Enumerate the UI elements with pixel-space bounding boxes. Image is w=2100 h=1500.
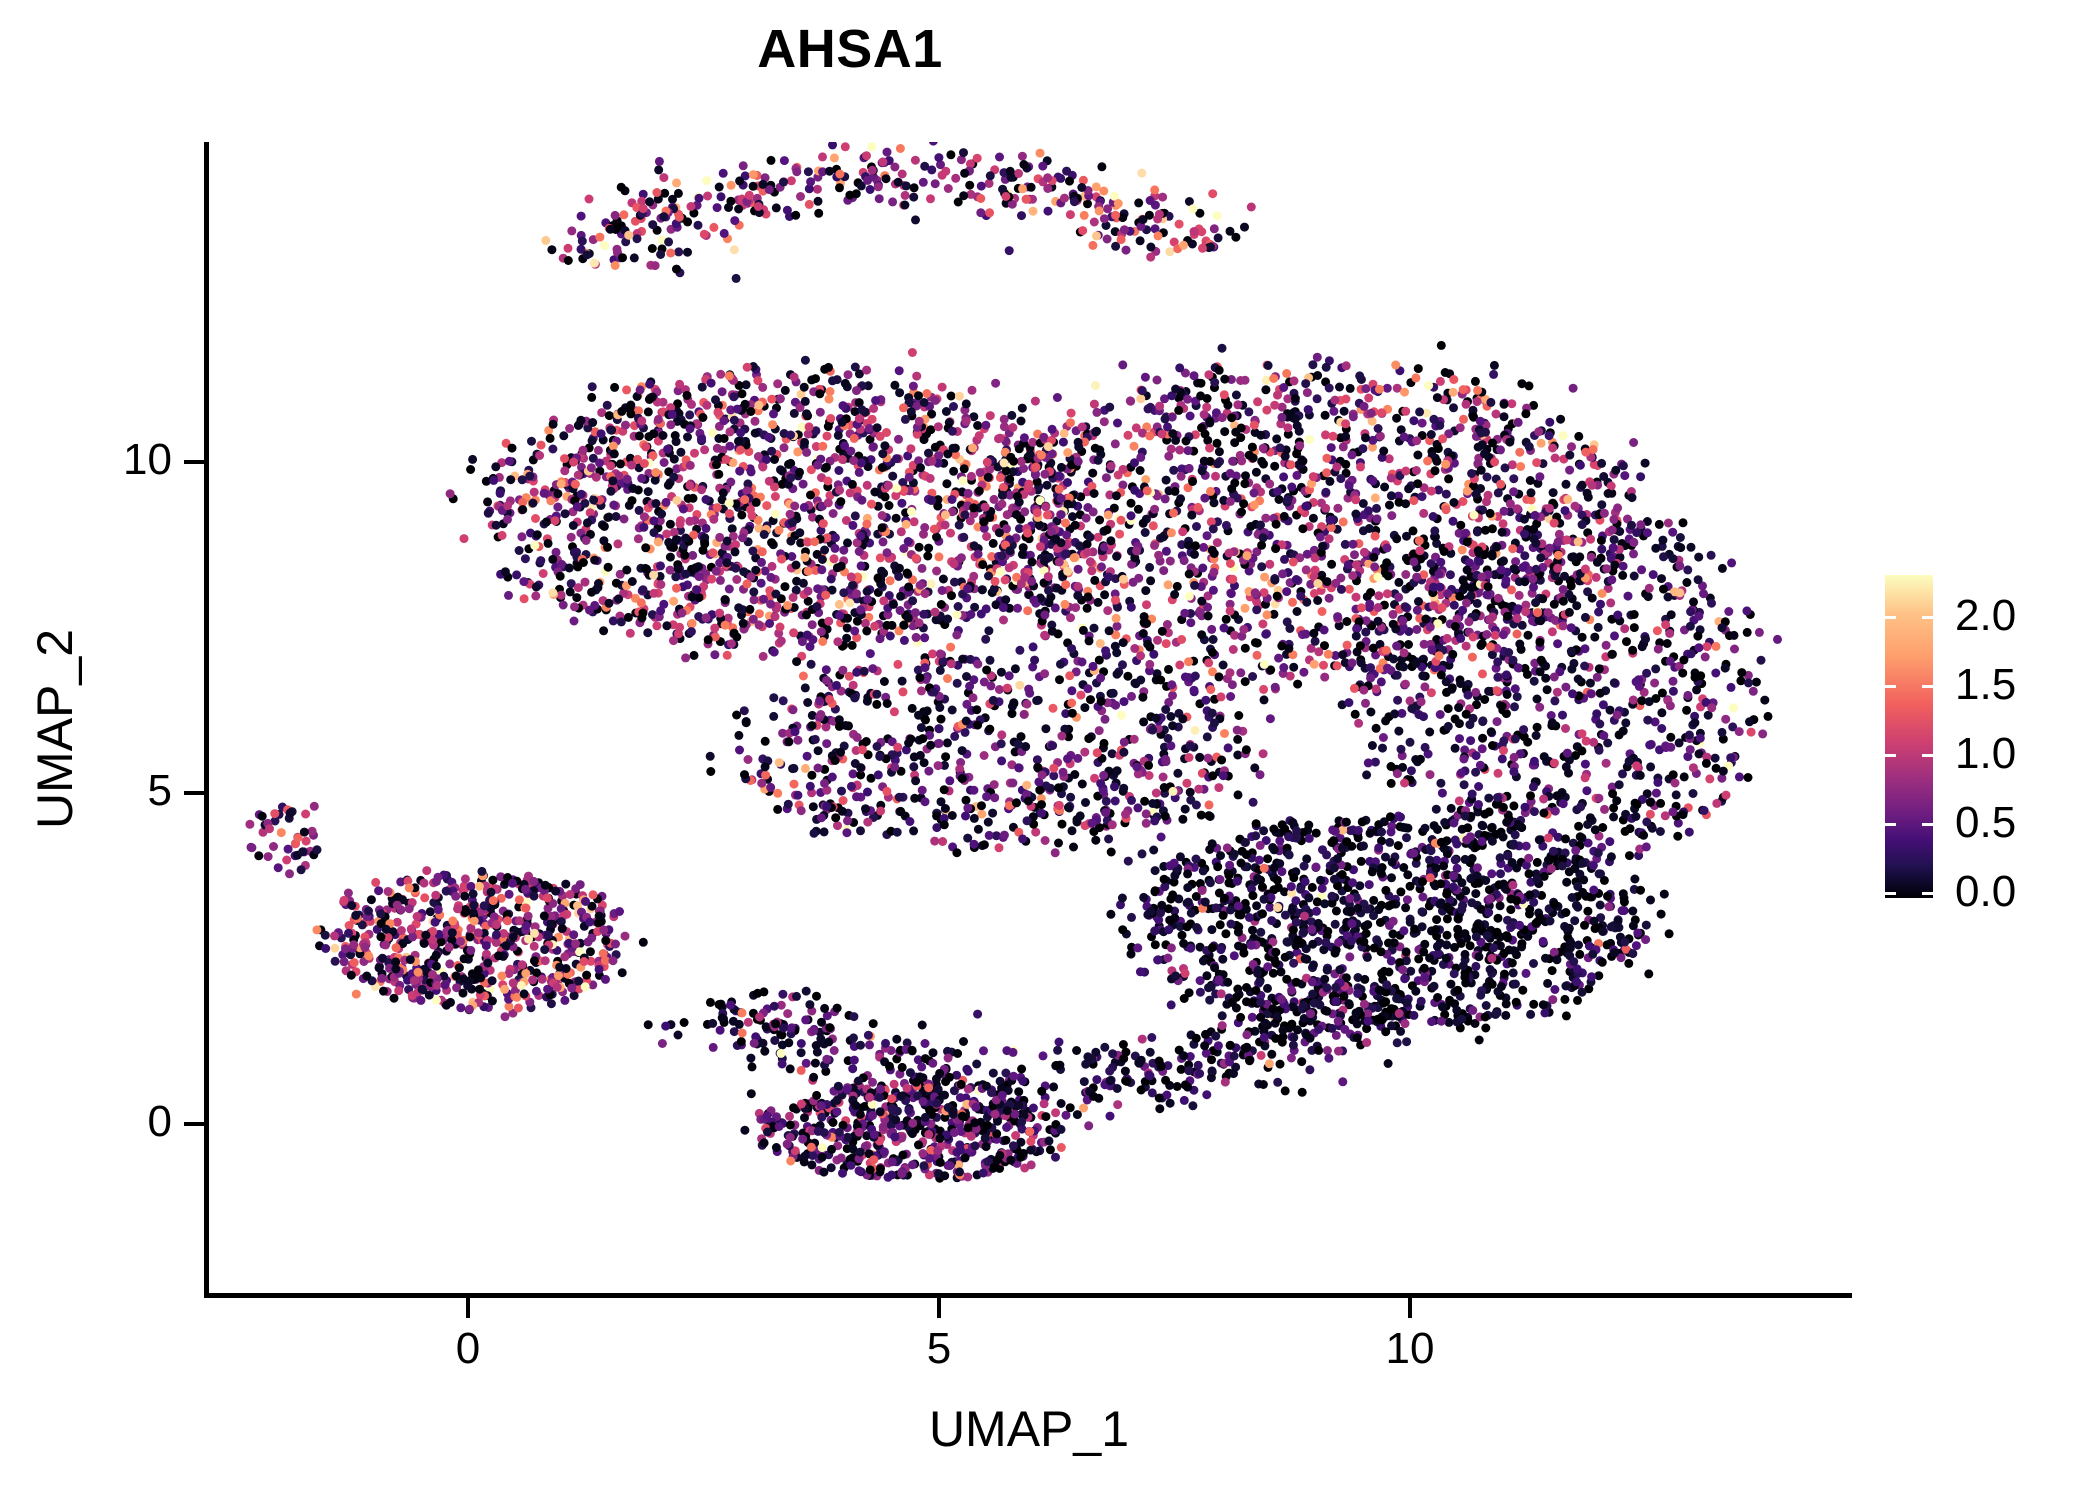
colorbar-tick-1.0-left — [1885, 754, 1896, 757]
x-tick-label-5: 5 — [859, 1325, 1019, 1373]
colorbar-label-1.0: 1.0 — [1955, 732, 2016, 776]
x-tick-label-10: 10 — [1330, 1325, 1490, 1373]
colorbar-label-0.0: 0.0 — [1955, 870, 2016, 914]
colorbar-tick-0.0-left — [1885, 892, 1896, 895]
plot-root: AHSA1 0 5 10 10 5 0 UMAP_1 UMAP_2 2.0 1.… — [0, 0, 2100, 1500]
colorbar-tick-0.0-right — [1922, 892, 1933, 895]
colorbar-tick-0.5-left — [1885, 823, 1896, 826]
colorbar-label-2.0: 2.0 — [1955, 594, 2016, 638]
colorbar-tick-1.5-left — [1885, 685, 1896, 688]
colorbar-label-1.5: 1.5 — [1955, 663, 2016, 707]
colorbar-legend: 2.0 1.5 1.0 0.5 0.0 — [1885, 575, 2085, 905]
x-axis-label: UMAP_1 — [204, 1400, 1854, 1458]
colorbar-label-0.5: 0.5 — [1955, 801, 2016, 845]
colorbar-tick-1.5-right — [1922, 685, 1933, 688]
x-tick-mark-0 — [466, 1298, 470, 1318]
y-axis-label: UMAP_2 — [26, 379, 84, 1079]
page-title: AHSA1 — [0, 22, 1700, 76]
scatter-points-layer — [204, 142, 1854, 1294]
colorbar-tick-2.0-right — [1922, 616, 1933, 619]
colorbar-tick-0.5-right — [1922, 823, 1933, 826]
y-tick-mark-0 — [184, 1122, 204, 1126]
colorbar-tick-2.0-left — [1885, 616, 1896, 619]
y-tick-mark-5 — [184, 791, 204, 795]
x-tick-label-0: 0 — [388, 1325, 548, 1373]
y-tick-label-0: 0 — [12, 1098, 172, 1146]
colorbar-tick-1.0-right — [1922, 754, 1933, 757]
colorbar-gradient — [1885, 575, 1933, 898]
x-tick-mark-10 — [1408, 1298, 1412, 1318]
y-tick-mark-10 — [184, 460, 204, 464]
x-tick-mark-5 — [937, 1298, 941, 1318]
